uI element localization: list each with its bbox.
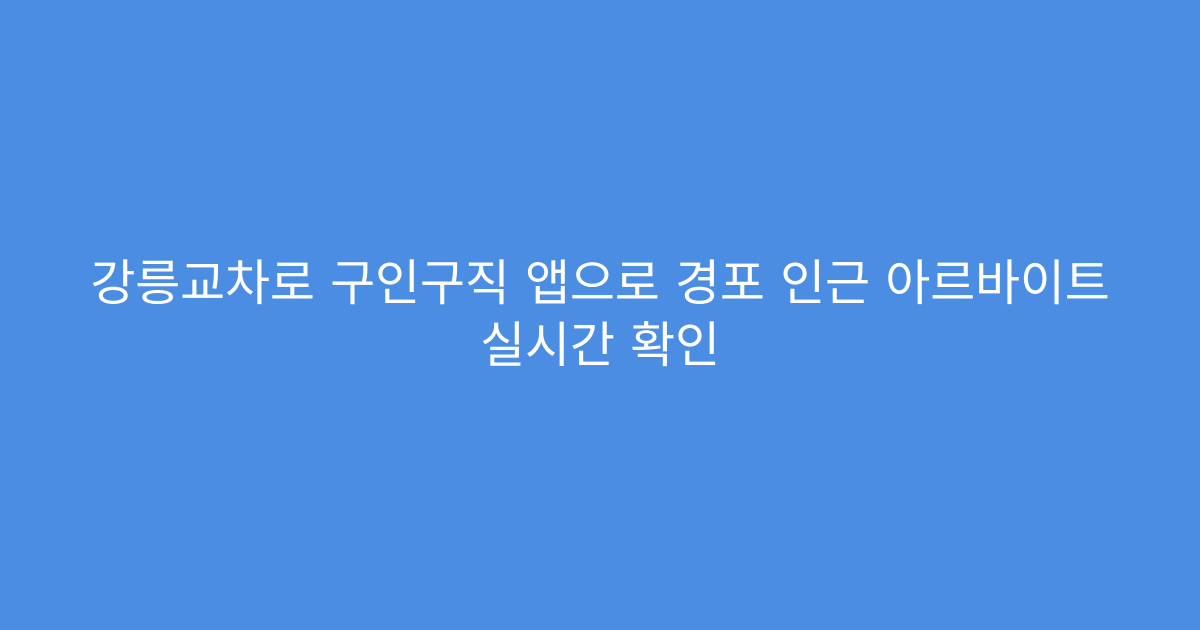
og-card: 강릉교차로 구인구직 앱으로 경포 인근 아르바이트 실시간 확인 (0, 0, 1200, 630)
headline-container: 강릉교차로 구인구직 앱으로 경포 인근 아르바이트 실시간 확인 (0, 253, 1200, 377)
page-title: 강릉교차로 구인구직 앱으로 경포 인근 아르바이트 실시간 확인 (56, 253, 1144, 377)
